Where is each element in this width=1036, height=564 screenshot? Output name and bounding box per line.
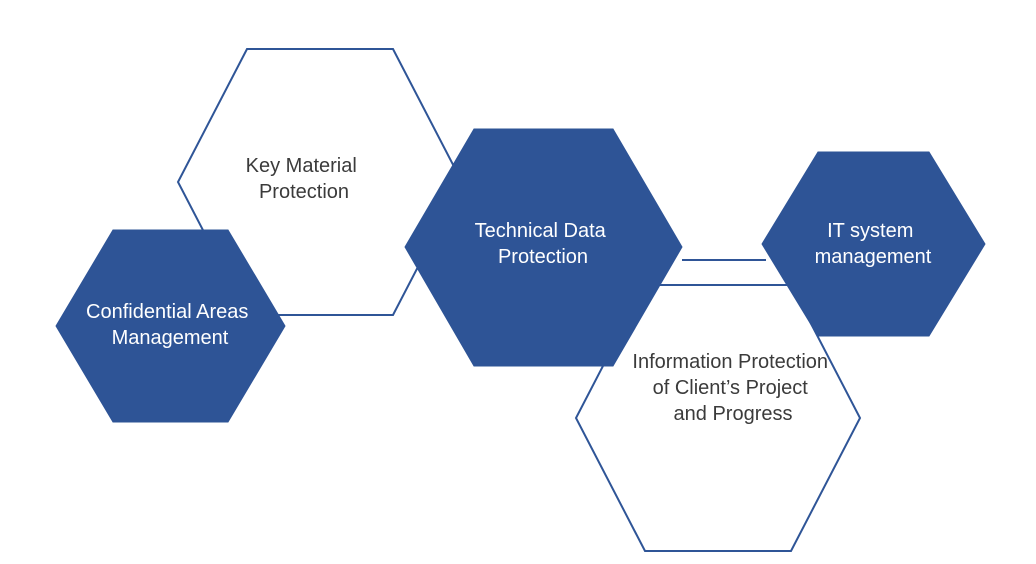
- hexagon-cluster-diagram: Key Material Protection Information Prot…: [0, 0, 1036, 564]
- hexagon-diagram-canvas: Key Material Protection Information Prot…: [0, 0, 1036, 564]
